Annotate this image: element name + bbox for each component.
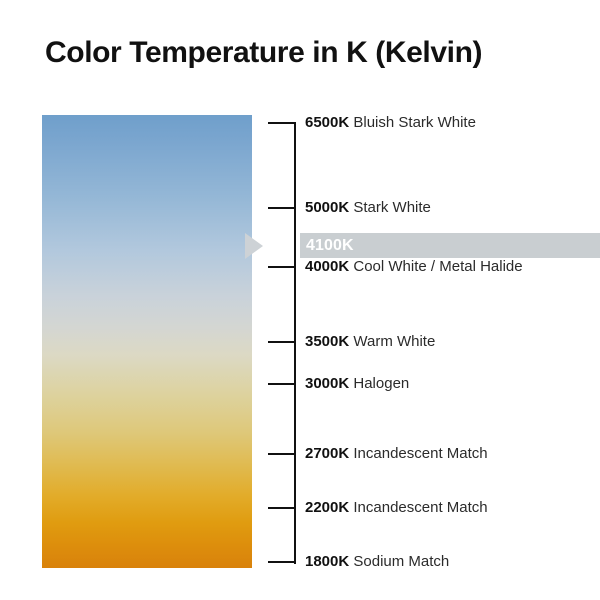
scale-row[interactable]: 6500K Bluish Stark White (305, 115, 476, 130)
tick-mark (268, 453, 296, 455)
tick-mark (268, 507, 296, 509)
scale-description: Bluish Stark White (353, 114, 476, 131)
scale-row[interactable]: 4000K Cool White / Metal Halide (305, 259, 523, 274)
tick-mark (268, 561, 296, 563)
scale-row[interactable]: 1800K Sodium Match (305, 554, 449, 569)
scale-description: Incandescent Match (353, 445, 487, 462)
scale-row[interactable]: 3000K Halogen (305, 376, 409, 391)
scale-description: Sodium Match (353, 553, 449, 570)
tick-mark (268, 383, 296, 385)
scale-row[interactable]: 5000K Stark White (305, 200, 431, 215)
tick-mark (268, 266, 296, 268)
scale-description: Cool White / Metal Halide (353, 258, 522, 275)
tick-mark (268, 207, 296, 209)
tick-mark (268, 122, 296, 124)
highlight-value-label: 4100K (306, 237, 354, 255)
page-title: Color Temperature in K (Kelvin) (45, 36, 482, 70)
color-temperature-gradient-bar (42, 115, 252, 568)
scale-description: Halogen (353, 375, 409, 392)
scale-kelvin-value: 1800K (305, 553, 349, 570)
scale-description: Stark White (353, 199, 431, 216)
scale-description: Incandescent Match (353, 499, 487, 516)
scale-description: Warm White (353, 333, 435, 350)
scale-row[interactable]: 2200K Incandescent Match (305, 500, 488, 515)
scale-row[interactable]: 2700K Incandescent Match (305, 446, 488, 461)
scale-axis-line (294, 123, 296, 564)
scale-kelvin-value: 6500K (305, 114, 349, 131)
scale-kelvin-value: 2700K (305, 445, 349, 462)
scale-kelvin-value: 4000K (305, 258, 349, 275)
selection-pointer-icon (245, 233, 263, 259)
color-temperature-infographic: Color Temperature in K (Kelvin) 4100K 65… (0, 0, 600, 600)
scale-kelvin-value: 3000K (305, 375, 349, 392)
scale-kelvin-value: 5000K (305, 199, 349, 216)
scale-kelvin-value: 2200K (305, 499, 349, 516)
scale-row[interactable]: 3500K Warm White (305, 334, 435, 349)
scale-kelvin-value: 3500K (305, 333, 349, 350)
tick-mark (268, 341, 296, 343)
